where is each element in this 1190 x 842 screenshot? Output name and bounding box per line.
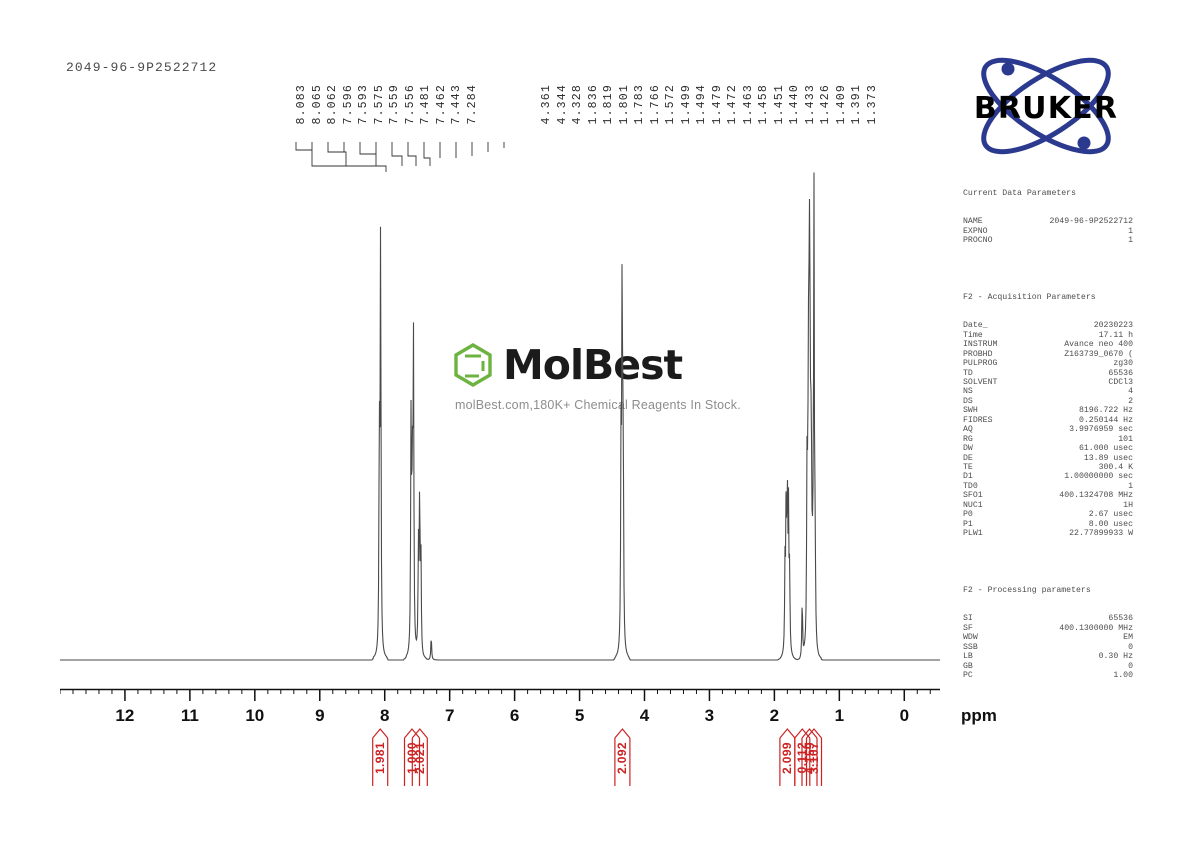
parameter-key: PLW1 [963, 529, 983, 538]
parameter-key: PROBHD [963, 350, 992, 359]
peak-label: 1.458 [758, 84, 774, 125]
parameter-value: 17.11 h [1099, 331, 1133, 340]
parameter-key: SOLVENT [963, 378, 997, 387]
parameter-row: NUC11H [963, 501, 1133, 510]
peak-label: 1.783 [634, 84, 650, 125]
parameter-key: WDW [963, 633, 978, 642]
peak-label: 1.766 [650, 84, 666, 125]
peak-label: 1.499 [681, 84, 697, 125]
parameter-value: 22.77899933 W [1069, 529, 1133, 538]
parameter-value: CDCl3 [1108, 378, 1133, 387]
parameter-value: 8.00 usec [1089, 520, 1133, 529]
peak-label: 7.556 [405, 84, 421, 125]
parameter-value: 3.9976959 sec [1069, 425, 1133, 434]
parameter-row: NS4 [963, 387, 1133, 396]
axis-unit-label: ppm [961, 706, 997, 726]
parameter-row: SSB0 [963, 643, 1133, 652]
integral-value: 2.092 [616, 742, 628, 774]
parameter-row: PROCNO1 [963, 236, 1133, 245]
peak-label: 1.373 [867, 84, 883, 125]
parameter-value: 400.1324708 MHz [1059, 491, 1133, 500]
parameter-row: Date_20230223 [963, 321, 1133, 330]
parameter-value: 0.250144 Hz [1079, 416, 1133, 425]
parameter-value: 2049-96-9P2522712 [1049, 217, 1133, 226]
parameter-key: P0 [963, 510, 973, 519]
axis-tick-label: 8 [380, 706, 389, 726]
peak-label: 8.083 [296, 84, 312, 125]
parameter-row: DE13.89 usec [963, 454, 1133, 463]
parameter-value: 61.000 usec [1079, 444, 1133, 453]
parameter-value: 101 [1118, 435, 1133, 444]
parameter-row: DS2 [963, 397, 1133, 406]
parameter-row: DW61.000 usec [963, 444, 1133, 453]
parameter-value: 0 [1128, 643, 1133, 652]
integral-value: 2.099 [781, 742, 793, 774]
multiplet-tie-lines [290, 140, 940, 174]
parameter-key: DW [963, 444, 973, 453]
processing-header: F2 - Processing parameters [963, 586, 1133, 595]
parameter-row: GB0 [963, 662, 1133, 671]
parameter-value: 1 [1128, 482, 1133, 491]
parameter-key: SFO1 [963, 491, 983, 500]
parameter-key: NAME [963, 217, 983, 226]
parameter-value: 4 [1128, 387, 1133, 396]
parameter-value: 65536 [1108, 369, 1133, 378]
peak-label: 7.462 [436, 84, 452, 125]
ppm-axis: 1211109876543210 ppm [60, 688, 940, 733]
parameter-key: D1 [963, 472, 973, 481]
parameter-value: zg30 [1113, 359, 1133, 368]
parameter-row: PROBHDZ163739_0670 ( [963, 350, 1133, 359]
parameter-key: RG [963, 435, 973, 444]
parameter-row: P18.00 usec [963, 520, 1133, 529]
parameter-key: SSB [963, 643, 978, 652]
parameter-row: SWH8196.722 Hz [963, 406, 1133, 415]
parameter-row: P02.67 usec [963, 510, 1133, 519]
parameter-key: GB [963, 662, 973, 671]
parameter-value: 400.1300000 MHz [1059, 624, 1133, 633]
processing-rows: SI65536SF400.1300000 MHzWDWEMSSB0LB0.30 … [963, 614, 1133, 680]
parameter-value: 1 [1128, 236, 1133, 245]
peak-label: 7.559 [389, 84, 405, 125]
integral-value: 2.021 [414, 742, 426, 774]
parameter-row: D11.00000000 sec [963, 472, 1133, 481]
parameter-key: AQ [963, 425, 973, 434]
peak-label: 7.481 [420, 84, 436, 125]
parameter-value: 8196.722 Hz [1079, 406, 1133, 415]
parameter-key: SI [963, 614, 973, 623]
peak-label: 1.433 [805, 84, 821, 125]
axis-tick-label: 6 [510, 706, 519, 726]
parameter-value: Z163739_0670 ( [1064, 350, 1133, 359]
parameter-row: TE300.4 K [963, 463, 1133, 472]
parameter-row: INSTRUMAvance neo 400 [963, 340, 1133, 349]
parameter-row: SFO1400.1324708 MHz [963, 491, 1133, 500]
current-data-header: Current Data Parameters [963, 189, 1133, 198]
parameter-key: TD0 [963, 482, 978, 491]
peak-label: 1.836 [588, 84, 604, 125]
parameter-key: PULPROG [963, 359, 997, 368]
peak-label: 1.479 [712, 84, 728, 125]
peak-label: 1.391 [851, 84, 867, 125]
parameter-key: PC [963, 671, 973, 680]
axis-tick-label: 4 [640, 706, 649, 726]
parameter-value: 2 [1128, 397, 1133, 406]
parameter-value: 13.89 usec [1084, 454, 1133, 463]
peak-label: 1.572 [665, 84, 681, 125]
peak-label: 1.409 [836, 84, 852, 125]
acquisition-rows: Date_20230223Time17.11 hINSTRUMAvance ne… [963, 321, 1133, 538]
parameter-key: EXPNO [963, 227, 988, 236]
integral-value: 1.981 [374, 742, 386, 774]
acquisition-parameters-panel: Current Data Parameters NAME2049-96-9P25… [963, 170, 1133, 690]
parameter-value: 1 [1128, 227, 1133, 236]
integral-values: 1.9811.0002.0212.0922.0990.1124.1593.107 [60, 728, 940, 808]
acquisition-header: F2 - Acquisition Parameters [963, 293, 1133, 302]
parameter-value: 20230223 [1094, 321, 1133, 330]
parameter-row: NAME2049-96-9P2522712 [963, 217, 1133, 226]
parameter-value: 0 [1128, 662, 1133, 671]
parameter-value: 1.00 [1113, 671, 1133, 680]
parameter-key: TD [963, 369, 973, 378]
spectrum-trace [60, 170, 940, 670]
parameter-key: NUC1 [963, 501, 983, 510]
axis-tick-label: 1 [835, 706, 844, 726]
peak-label: 4.361 [541, 84, 557, 125]
parameter-key: INSTRUM [963, 340, 997, 349]
parameter-row: AQ3.9976959 sec [963, 425, 1133, 434]
parameter-key: TE [963, 463, 973, 472]
peak-label-group-aliphatic: 4.3614.3444.3281.8361.8191.8011.7831.766… [541, 84, 882, 125]
parameter-row: PULPROGzg30 [963, 359, 1133, 368]
axis-tick-label: 9 [315, 706, 324, 726]
parameter-row: PLW122.77899933 W [963, 529, 1133, 538]
peak-label: 7.593 [358, 84, 374, 125]
sample-id-label: 2049-96-9P2522712 [66, 60, 217, 75]
parameter-value: 300.4 K [1099, 463, 1133, 472]
parameter-key: SF [963, 624, 973, 633]
parameter-key: LB [963, 652, 973, 661]
parameter-value: 0.30 Hz [1099, 652, 1133, 661]
parameter-key: DE [963, 454, 973, 463]
bruker-wordmark: BRUKER [974, 91, 1118, 126]
parameter-value: 65536 [1108, 614, 1133, 623]
parameter-key: Date_ [963, 321, 988, 330]
peak-label: 4.328 [572, 84, 588, 125]
peak-label: 1.472 [727, 84, 743, 125]
axis-tick-label: 7 [445, 706, 454, 726]
peak-label-group-aromatic: 8.0838.0658.0627.5967.5937.5757.5597.556… [296, 84, 482, 125]
parameter-row: EXPNO1 [963, 227, 1133, 236]
current-data-rows: NAME2049-96-9P2522712EXPNO1PROCNO1 [963, 217, 1133, 245]
peak-label: 4.344 [557, 84, 573, 125]
axis-tick-label: 10 [245, 706, 264, 726]
peak-label: 1.463 [743, 84, 759, 125]
peak-label: 7.284 [467, 84, 483, 125]
peak-label: 1.426 [820, 84, 836, 125]
axis-tick-label: 5 [575, 706, 584, 726]
parameter-row: FIDRES0.250144 Hz [963, 416, 1133, 425]
peak-label: 1.494 [696, 84, 712, 125]
peak-label: 7.443 [451, 84, 467, 125]
parameter-key: P1 [963, 520, 973, 529]
bruker-logo: BRUKER [960, 52, 1132, 160]
axis-tick-label: 11 [181, 706, 199, 726]
axis-ticks [60, 688, 940, 708]
peak-label: 7.575 [374, 84, 390, 125]
parameter-key: NS [963, 387, 973, 396]
integral-value: 3.107 [808, 742, 820, 774]
peak-label: 8.062 [327, 84, 343, 125]
parameter-row: SOLVENTCDCl3 [963, 378, 1133, 387]
parameter-key: Time [963, 331, 983, 340]
parameter-row: SI65536 [963, 614, 1133, 623]
parameter-value: Avance neo 400 [1064, 340, 1133, 349]
parameter-row: RG101 [963, 435, 1133, 444]
peak-label: 7.596 [343, 84, 359, 125]
parameter-row: LB0.30 Hz [963, 652, 1133, 661]
axis-tick-label: 0 [900, 706, 909, 726]
parameter-row: Time17.11 h [963, 331, 1133, 340]
axis-tick-label: 12 [115, 706, 134, 726]
axis-tick-label: 2 [770, 706, 779, 726]
parameter-row: PC1.00 [963, 671, 1133, 680]
peak-label: 1.801 [619, 84, 635, 125]
parameter-key: FIDRES [963, 416, 992, 425]
parameter-value: 2.67 usec [1089, 510, 1133, 519]
parameter-value: 1.00000000 sec [1064, 472, 1133, 481]
parameter-key: DS [963, 397, 973, 406]
parameter-value: EM [1123, 633, 1133, 642]
parameter-key: PROCNO [963, 236, 992, 245]
peak-label: 1.440 [789, 84, 805, 125]
parameter-row: TD65536 [963, 369, 1133, 378]
peak-label: 1.819 [603, 84, 619, 125]
peak-label: 8.065 [312, 84, 328, 125]
peak-label: 1.451 [774, 84, 790, 125]
axis-tick-label: 3 [705, 706, 714, 726]
parameter-value: 1H [1123, 501, 1133, 510]
parameter-row: WDWEM [963, 633, 1133, 642]
parameter-key: SWH [963, 406, 978, 415]
parameter-row: SF400.1300000 MHz [963, 624, 1133, 633]
nmr-spectrum-plot [60, 170, 940, 670]
parameter-row: TD01 [963, 482, 1133, 491]
